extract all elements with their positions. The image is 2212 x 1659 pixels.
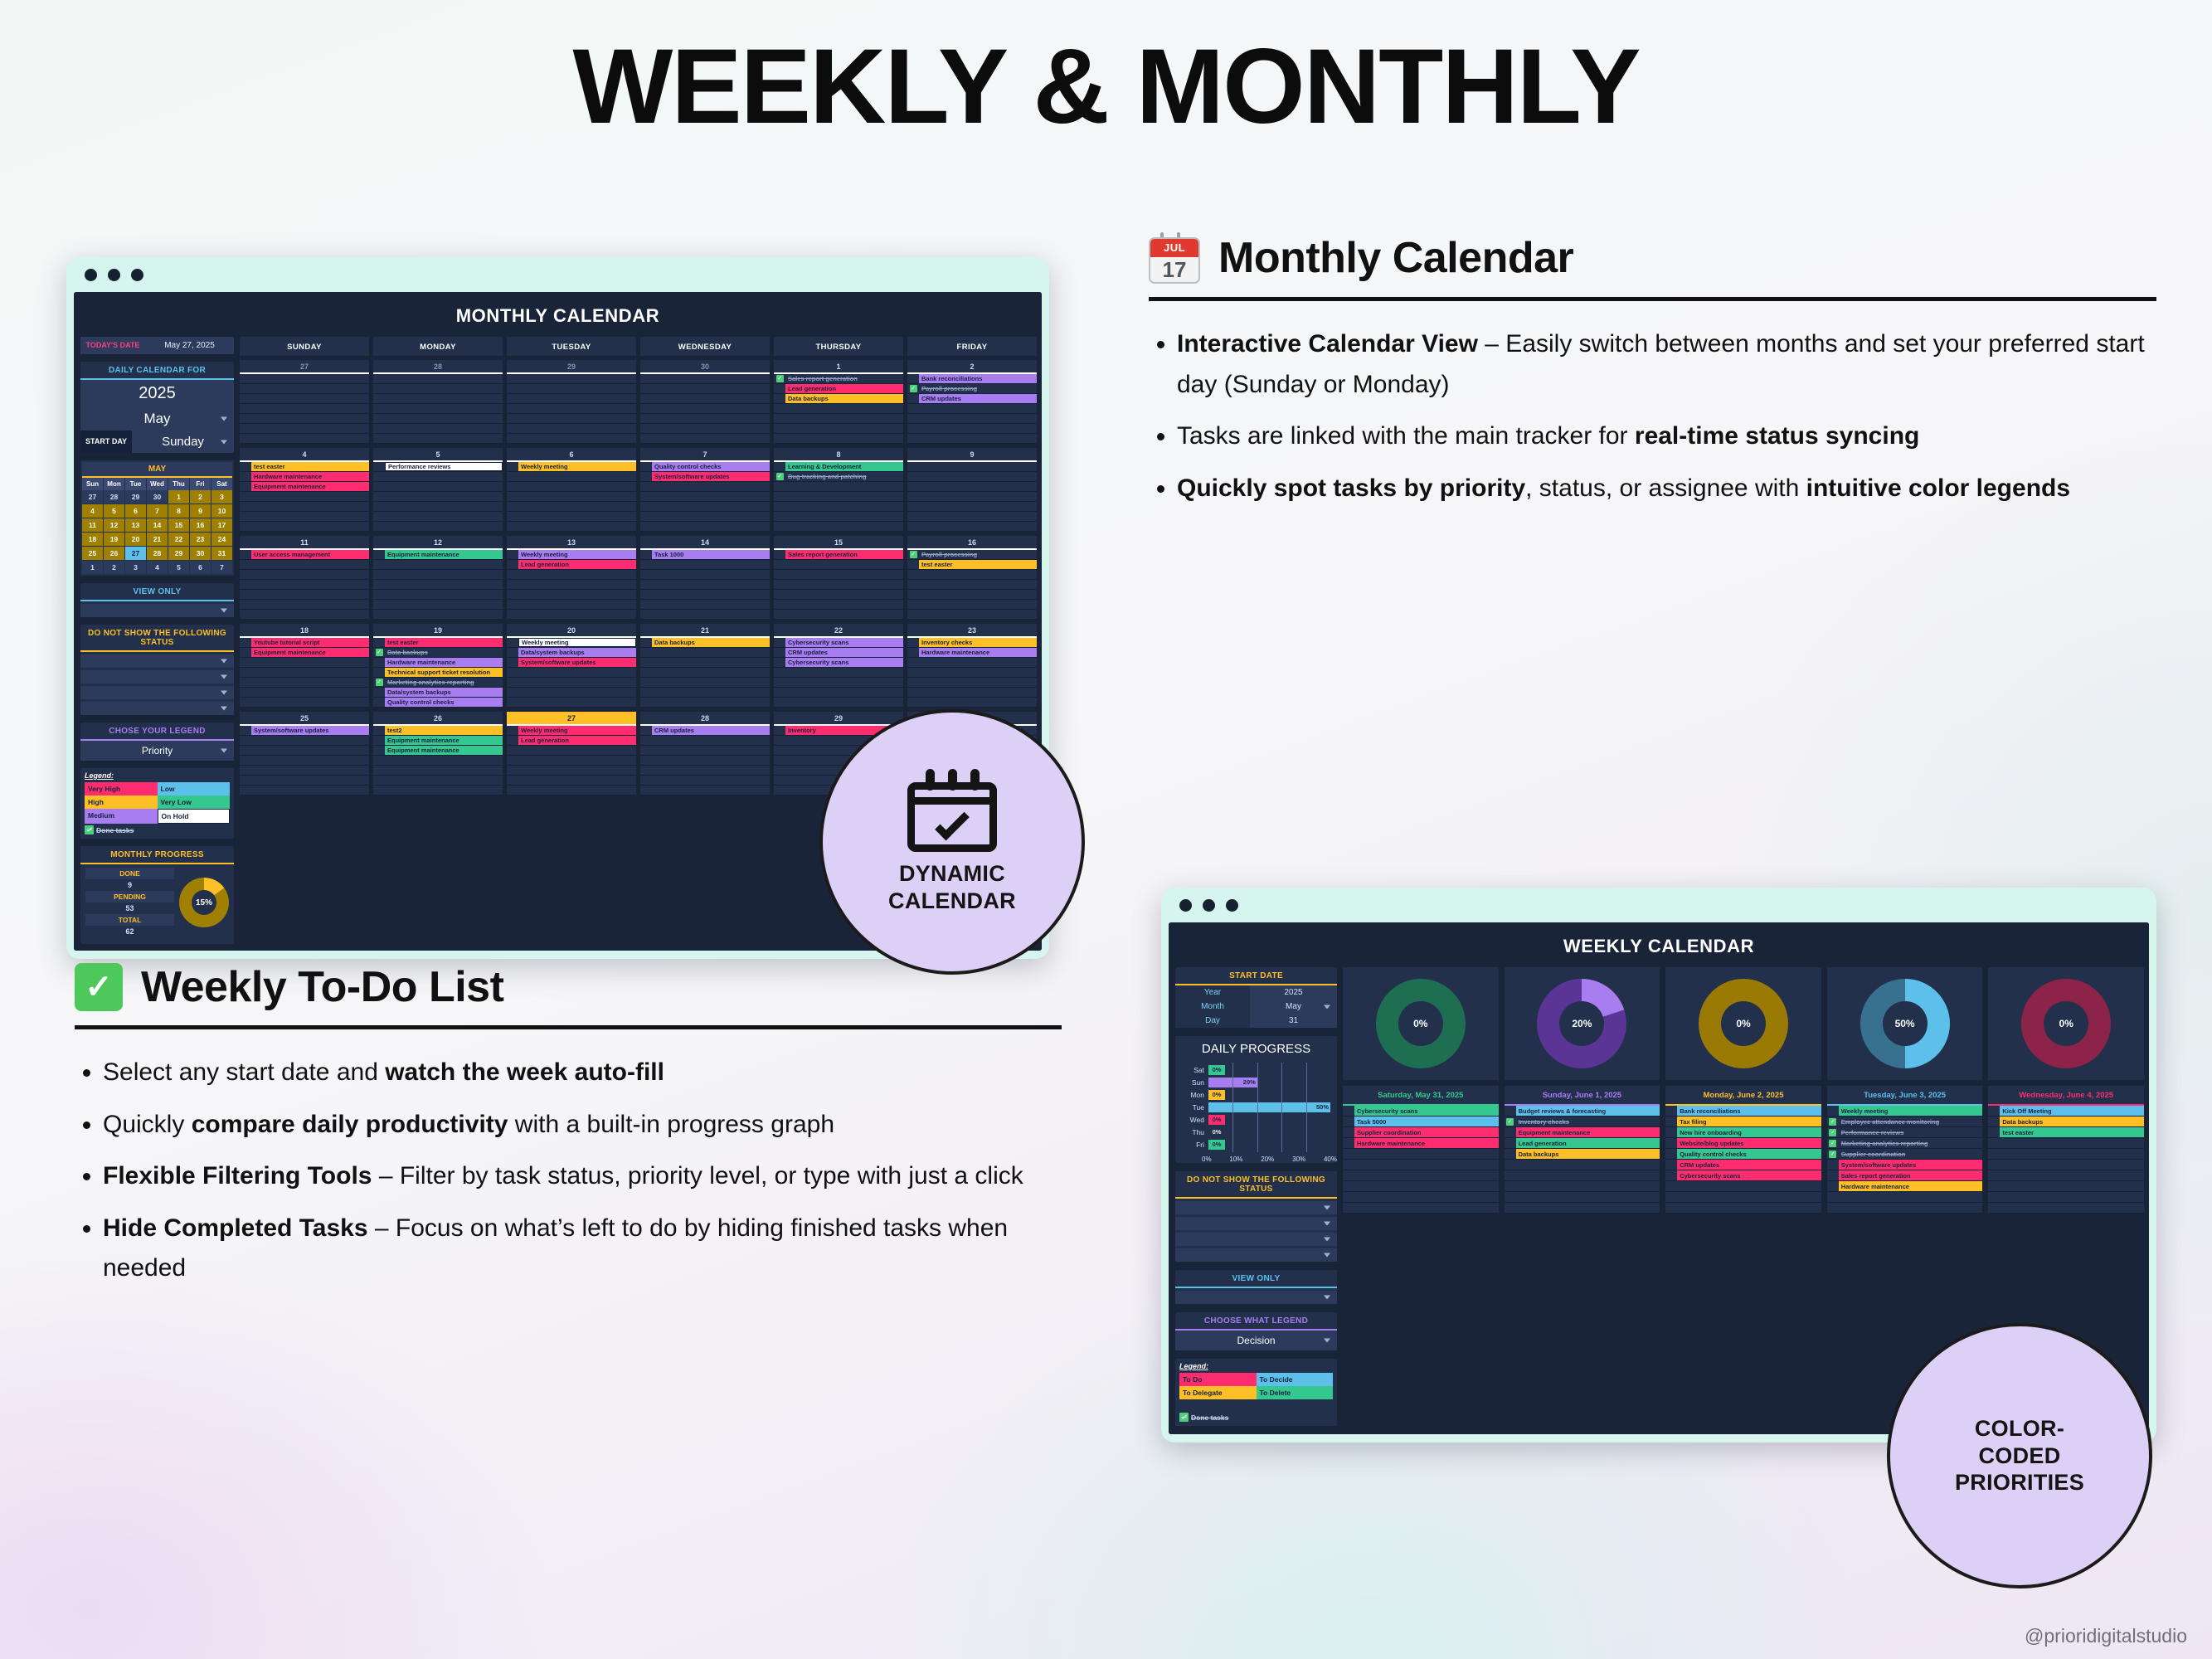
- task-slot[interactable]: [373, 384, 503, 394]
- task-slot[interactable]: [507, 610, 636, 620]
- task-checkbox[interactable]: [507, 600, 518, 609]
- task-slot[interactable]: [640, 414, 770, 424]
- task-checkbox[interactable]: [640, 384, 652, 393]
- task-checkbox[interactable]: [640, 678, 652, 687]
- task-slot[interactable]: Data/system backups: [373, 688, 503, 698]
- task-checkbox[interactable]: [640, 570, 652, 579]
- task-checkbox[interactable]: [1505, 1160, 1516, 1170]
- task-checkbox[interactable]: [907, 522, 919, 531]
- task-slot[interactable]: [373, 502, 503, 512]
- task-checkbox[interactable]: [1343, 1192, 1354, 1202]
- mini-calendar-day[interactable]: 14: [147, 518, 168, 532]
- task-slot[interactable]: [907, 502, 1037, 512]
- task-checkbox[interactable]: [907, 678, 919, 687]
- task-checkbox[interactable]: [640, 688, 652, 697]
- task-slot[interactable]: [640, 560, 770, 570]
- task-slot[interactable]: [507, 394, 636, 404]
- task-slot[interactable]: test easter: [373, 638, 503, 648]
- task-checkbox[interactable]: [774, 434, 785, 443]
- calendar-day-cell[interactable]: 28CRM updates: [640, 712, 770, 795]
- task-slot[interactable]: [1988, 1160, 2144, 1170]
- task-checkbox[interactable]: [907, 404, 919, 413]
- task-slot[interactable]: ✓Payroll processing: [907, 384, 1037, 394]
- task-slot[interactable]: test2: [373, 726, 503, 736]
- task-slot[interactable]: [240, 776, 369, 786]
- task-checkbox[interactable]: [1827, 1160, 1839, 1170]
- mini-calendar-day[interactable]: 30: [190, 547, 211, 560]
- task-slot[interactable]: [640, 522, 770, 532]
- task-checkbox[interactable]: [1988, 1138, 2000, 1148]
- task-slot[interactable]: [507, 424, 636, 434]
- mini-calendar-day[interactable]: 28: [147, 547, 168, 560]
- task-slot[interactable]: [774, 610, 903, 620]
- task-slot[interactable]: [373, 434, 503, 444]
- task-checkbox[interactable]: [507, 726, 518, 735]
- task-slot[interactable]: Weekly meeting: [507, 550, 636, 560]
- task-slot[interactable]: Data backups: [1988, 1117, 2144, 1127]
- task-checkbox[interactable]: [640, 580, 652, 589]
- task-checkbox[interactable]: [240, 384, 251, 393]
- task-checkbox[interactable]: [507, 424, 518, 433]
- task-checkbox[interactable]: [507, 394, 518, 403]
- task-checkbox[interactable]: [640, 698, 652, 707]
- task-slot[interactable]: [507, 776, 636, 786]
- task-checkbox[interactable]: [507, 404, 518, 413]
- mini-calendar-day[interactable]: 17: [211, 518, 232, 532]
- task-slot[interactable]: [240, 610, 369, 620]
- task-checkbox[interactable]: ✓: [907, 550, 919, 559]
- mini-calendar-day[interactable]: 20: [125, 533, 146, 546]
- calendar-day-cell[interactable]: 25System/software updates: [240, 712, 369, 795]
- task-slot[interactable]: [240, 658, 369, 668]
- task-slot[interactable]: ✓Marketing analytics reporting: [1827, 1138, 1983, 1149]
- task-slot[interactable]: [507, 374, 636, 384]
- task-checkbox[interactable]: [1665, 1138, 1677, 1148]
- task-slot[interactable]: New hire onboarding: [1665, 1127, 1821, 1138]
- task-checkbox[interactable]: [1505, 1181, 1516, 1191]
- calendar-day-cell[interactable]: 9: [907, 448, 1037, 532]
- task-slot[interactable]: Equipment maintenance: [373, 550, 503, 560]
- task-checkbox[interactable]: [1343, 1106, 1354, 1116]
- task-checkbox[interactable]: [1505, 1149, 1516, 1159]
- hide-status-select-2[interactable]: [80, 670, 234, 684]
- task-checkbox[interactable]: [507, 374, 518, 383]
- task-checkbox[interactable]: [507, 384, 518, 393]
- task-checkbox[interactable]: [373, 482, 385, 491]
- task-slot[interactable]: [774, 512, 903, 522]
- task-checkbox[interactable]: [1505, 1203, 1516, 1213]
- task-slot[interactable]: Equipment maintenance: [373, 746, 503, 756]
- mini-calendar-day[interactable]: 7: [147, 504, 168, 518]
- task-slot[interactable]: [774, 522, 903, 532]
- legend-select[interactable]: Priority: [80, 741, 234, 761]
- task-slot[interactable]: Weekly meeting: [507, 462, 636, 472]
- task-slot[interactable]: Cybersecurity scans: [774, 638, 903, 648]
- mini-calendar-day[interactable]: 6: [125, 504, 146, 518]
- task-slot[interactable]: [1988, 1203, 2144, 1214]
- task-checkbox[interactable]: [1988, 1149, 2000, 1159]
- window-minimize-dot[interactable]: [1203, 899, 1215, 912]
- task-slot[interactable]: Lead generation: [507, 560, 636, 570]
- task-slot[interactable]: [907, 482, 1037, 492]
- task-checkbox[interactable]: [640, 482, 652, 491]
- task-checkbox[interactable]: [507, 756, 518, 765]
- task-checkbox[interactable]: [1665, 1117, 1677, 1126]
- task-checkbox[interactable]: [1665, 1203, 1677, 1213]
- task-checkbox[interactable]: [907, 482, 919, 491]
- task-checkbox[interactable]: [640, 590, 652, 599]
- mini-calendar-day[interactable]: 5: [104, 504, 124, 518]
- task-slot[interactable]: [907, 512, 1037, 522]
- task-slot[interactable]: [640, 512, 770, 522]
- task-checkbox[interactable]: [774, 550, 785, 559]
- task-checkbox[interactable]: [907, 462, 919, 471]
- task-slot[interactable]: [373, 580, 503, 590]
- task-slot[interactable]: User access management: [240, 550, 369, 560]
- task-checkbox[interactable]: [240, 638, 251, 647]
- task-checkbox[interactable]: [1827, 1181, 1839, 1191]
- task-checkbox[interactable]: [774, 394, 785, 403]
- month-select[interactable]: May: [80, 407, 234, 431]
- task-checkbox[interactable]: [1988, 1117, 2000, 1126]
- task-slot[interactable]: [907, 462, 1037, 472]
- task-slot[interactable]: [240, 374, 369, 384]
- task-slot[interactable]: [640, 384, 770, 394]
- task-checkbox[interactable]: [640, 502, 652, 511]
- task-checkbox[interactable]: [507, 590, 518, 599]
- mini-calendar-day[interactable]: 7: [211, 561, 232, 574]
- task-checkbox[interactable]: [774, 600, 785, 609]
- task-checkbox[interactable]: [1343, 1170, 1354, 1180]
- task-checkbox[interactable]: [240, 472, 251, 481]
- task-checkbox[interactable]: [240, 492, 251, 501]
- task-checkbox[interactable]: [1988, 1181, 2000, 1191]
- task-checkbox[interactable]: [640, 404, 652, 413]
- task-checkbox[interactable]: [507, 698, 518, 707]
- task-checkbox[interactable]: [507, 522, 518, 531]
- task-checkbox[interactable]: [1343, 1138, 1354, 1148]
- task-checkbox[interactable]: [774, 638, 785, 647]
- task-checkbox[interactable]: [507, 472, 518, 481]
- task-checkbox[interactable]: [240, 424, 251, 433]
- task-checkbox[interactable]: [774, 756, 785, 765]
- calendar-day-cell[interactable]: 19test easter✓Data backupsHardware maint…: [373, 624, 503, 708]
- task-slot[interactable]: CRM updates: [907, 394, 1037, 404]
- task-checkbox[interactable]: [774, 404, 785, 413]
- task-slot[interactable]: Sales report generation: [774, 550, 903, 560]
- task-slot[interactable]: Bank reconciliations: [1665, 1106, 1821, 1117]
- task-slot[interactable]: [640, 658, 770, 668]
- task-slot[interactable]: [240, 522, 369, 532]
- task-checkbox[interactable]: [373, 492, 385, 501]
- mini-calendar-day[interactable]: 11: [82, 518, 103, 532]
- task-checkbox[interactable]: [774, 492, 785, 501]
- task-slot[interactable]: [240, 570, 369, 580]
- task-slot[interactable]: [907, 414, 1037, 424]
- task-slot[interactable]: [1343, 1181, 1499, 1192]
- task-slot[interactable]: System/software updates: [240, 726, 369, 736]
- task-slot[interactable]: [774, 502, 903, 512]
- task-slot[interactable]: [373, 570, 503, 580]
- calendar-day-cell[interactable]: 14Task 1000: [640, 536, 770, 620]
- mini-calendar-day[interactable]: 22: [168, 533, 189, 546]
- task-slot[interactable]: ✓Performance reviews: [1827, 1127, 1983, 1138]
- hide-status-select-3[interactable]: [1175, 1233, 1337, 1246]
- task-checkbox[interactable]: [774, 482, 785, 491]
- task-checkbox[interactable]: [507, 550, 518, 559]
- task-slot[interactable]: [240, 668, 369, 678]
- task-slot[interactable]: [507, 580, 636, 590]
- task-slot[interactable]: [240, 560, 369, 570]
- task-slot[interactable]: [640, 434, 770, 444]
- mini-calendar-day[interactable]: 1: [82, 561, 103, 574]
- task-checkbox[interactable]: [774, 648, 785, 657]
- task-checkbox[interactable]: [640, 424, 652, 433]
- task-checkbox[interactable]: [240, 688, 251, 697]
- task-slot[interactable]: Hardware maintenance: [240, 472, 369, 482]
- mini-calendar-day[interactable]: 18: [82, 533, 103, 546]
- task-slot[interactable]: [907, 522, 1037, 532]
- task-slot[interactable]: [373, 560, 503, 570]
- weekly-day-column[interactable]: Sunday, June 1, 2025Budget reviews & for…: [1505, 1086, 1660, 1214]
- task-checkbox[interactable]: [1343, 1203, 1354, 1213]
- task-checkbox[interactable]: [240, 766, 251, 775]
- task-slot[interactable]: [373, 756, 503, 766]
- mini-calendar-day[interactable]: 27: [125, 547, 146, 560]
- task-checkbox[interactable]: [240, 698, 251, 707]
- task-checkbox[interactable]: [373, 414, 385, 423]
- task-checkbox[interactable]: [240, 668, 251, 677]
- task-slot[interactable]: test easter: [1988, 1127, 2144, 1138]
- task-slot[interactable]: Inventory checks: [907, 638, 1037, 648]
- task-slot[interactable]: Quality control checks: [373, 698, 503, 708]
- calendar-day-cell[interactable]: 8Learning & Development✓Bug tracking and…: [774, 448, 903, 532]
- task-checkbox[interactable]: [507, 580, 518, 589]
- task-slot[interactable]: [640, 590, 770, 600]
- task-slot[interactable]: [907, 570, 1037, 580]
- task-checkbox[interactable]: [1988, 1160, 2000, 1170]
- task-slot[interactable]: [373, 414, 503, 424]
- task-slot[interactable]: CRM updates: [774, 648, 903, 658]
- calendar-day-cell[interactable]: 1✓Sales report generationLead generation…: [774, 360, 903, 444]
- task-checkbox[interactable]: ✓: [1827, 1117, 1839, 1126]
- task-checkbox[interactable]: [907, 668, 919, 677]
- task-slot[interactable]: [373, 590, 503, 600]
- weekly-day-column[interactable]: Wednesday, June 4, 2025Kick Off MeetingD…: [1988, 1086, 2144, 1214]
- mini-calendar-day[interactable]: 9: [190, 504, 211, 518]
- task-slot[interactable]: [1665, 1192, 1821, 1203]
- task-slot[interactable]: System/software updates: [640, 472, 770, 482]
- task-slot[interactable]: Tax filing: [1665, 1117, 1821, 1127]
- task-checkbox[interactable]: [640, 610, 652, 619]
- task-slot[interactable]: [640, 374, 770, 384]
- task-slot[interactable]: [1988, 1192, 2144, 1203]
- task-slot[interactable]: [240, 424, 369, 434]
- task-checkbox[interactable]: [1665, 1127, 1677, 1137]
- task-checkbox[interactable]: [640, 512, 652, 521]
- task-slot[interactable]: [373, 766, 503, 776]
- task-slot[interactable]: [774, 424, 903, 434]
- task-slot[interactable]: [373, 522, 503, 532]
- calendar-day-cell[interactable]: 22Cybersecurity scansCRM updatesCybersec…: [774, 624, 903, 708]
- task-checkbox[interactable]: [774, 610, 785, 619]
- task-checkbox[interactable]: ✓: [1827, 1138, 1839, 1148]
- task-checkbox[interactable]: [1343, 1117, 1354, 1126]
- task-checkbox[interactable]: [373, 698, 385, 707]
- task-slot[interactable]: [240, 736, 369, 746]
- task-slot[interactable]: Bank reconciliations: [907, 374, 1037, 384]
- window-close-dot[interactable]: [85, 269, 97, 281]
- task-slot[interactable]: [907, 600, 1037, 610]
- task-checkbox[interactable]: [240, 590, 251, 599]
- task-slot[interactable]: [507, 668, 636, 678]
- task-slot[interactable]: [507, 698, 636, 708]
- task-checkbox[interactable]: ✓: [373, 678, 385, 687]
- task-checkbox[interactable]: [373, 736, 385, 745]
- task-slot[interactable]: Data backups: [1505, 1149, 1660, 1160]
- task-slot[interactable]: [373, 482, 503, 492]
- mini-calendar-days[interactable]: 2728293012345678910111213141516171819202…: [82, 490, 232, 574]
- task-slot[interactable]: [640, 502, 770, 512]
- calendar-day-cell[interactable]: 29: [507, 360, 636, 444]
- calendar-day-cell[interactable]: 26test2Equipment maintenanceEquipment ma…: [373, 712, 503, 795]
- task-checkbox[interactable]: [1505, 1138, 1516, 1148]
- task-checkbox[interactable]: [1343, 1127, 1354, 1137]
- task-checkbox[interactable]: [774, 384, 785, 393]
- task-checkbox[interactable]: [373, 434, 385, 443]
- task-slot[interactable]: [240, 502, 369, 512]
- task-slot[interactable]: [240, 492, 369, 502]
- task-checkbox[interactable]: [1505, 1127, 1516, 1137]
- task-slot[interactable]: Equipment maintenance: [373, 736, 503, 746]
- task-slot[interactable]: ✓Sales report generation: [774, 374, 903, 384]
- mini-calendar-day[interactable]: 8: [168, 504, 189, 518]
- task-checkbox[interactable]: [907, 638, 919, 647]
- start-date-field[interactable]: MonthMay: [1175, 1000, 1337, 1014]
- task-checkbox[interactable]: [1988, 1127, 2000, 1137]
- hide-status-select-2[interactable]: [1175, 1217, 1337, 1230]
- mini-calendar-day[interactable]: 30: [147, 490, 168, 504]
- task-checkbox[interactable]: [907, 472, 919, 481]
- task-slot[interactable]: [640, 756, 770, 766]
- task-slot[interactable]: [640, 766, 770, 776]
- task-slot[interactable]: System/software updates: [1827, 1160, 1983, 1170]
- task-slot[interactable]: Hardware maintenance: [907, 648, 1037, 658]
- task-slot[interactable]: Sales report generation: [1827, 1170, 1983, 1181]
- task-slot[interactable]: [1343, 1192, 1499, 1203]
- task-slot[interactable]: [240, 384, 369, 394]
- task-slot[interactable]: [774, 688, 903, 698]
- task-checkbox[interactable]: [907, 580, 919, 589]
- mini-calendar-day[interactable]: 16: [190, 518, 211, 532]
- task-checkbox[interactable]: ✓: [1505, 1117, 1516, 1126]
- task-checkbox[interactable]: [373, 472, 385, 481]
- task-slot[interactable]: [240, 786, 369, 795]
- task-checkbox[interactable]: [240, 746, 251, 755]
- task-slot[interactable]: [774, 668, 903, 678]
- task-slot[interactable]: [640, 698, 770, 708]
- task-slot[interactable]: Equipment maintenance: [240, 482, 369, 492]
- mini-calendar-day[interactable]: 19: [104, 533, 124, 546]
- task-checkbox[interactable]: [774, 766, 785, 775]
- task-slot[interactable]: [507, 570, 636, 580]
- task-slot[interactable]: [1665, 1181, 1821, 1192]
- task-checkbox[interactable]: [373, 560, 385, 569]
- task-slot[interactable]: Hardware maintenance: [373, 658, 503, 668]
- task-slot[interactable]: [774, 678, 903, 688]
- task-slot[interactable]: [640, 610, 770, 620]
- task-slot[interactable]: [507, 502, 636, 512]
- task-checkbox[interactable]: [373, 394, 385, 403]
- task-checkbox[interactable]: [373, 766, 385, 775]
- task-checkbox[interactable]: [1665, 1192, 1677, 1202]
- task-slot[interactable]: Lead generation: [774, 384, 903, 394]
- task-checkbox[interactable]: [240, 512, 251, 521]
- task-checkbox[interactable]: [907, 414, 919, 423]
- task-slot[interactable]: [507, 688, 636, 698]
- task-slot[interactable]: [1343, 1203, 1499, 1214]
- task-checkbox[interactable]: [507, 786, 518, 795]
- task-checkbox[interactable]: [774, 698, 785, 707]
- task-checkbox[interactable]: [774, 570, 785, 579]
- task-checkbox[interactable]: [1665, 1149, 1677, 1159]
- task-checkbox[interactable]: [1505, 1170, 1516, 1180]
- task-checkbox[interactable]: [1827, 1106, 1839, 1116]
- task-checkbox[interactable]: [1827, 1192, 1839, 1202]
- task-checkbox[interactable]: [507, 746, 518, 755]
- task-checkbox[interactable]: [1827, 1203, 1839, 1213]
- task-slot[interactable]: [240, 600, 369, 610]
- task-checkbox[interactable]: [240, 658, 251, 667]
- task-checkbox[interactable]: [774, 668, 785, 677]
- task-slot[interactable]: [240, 678, 369, 688]
- task-checkbox[interactable]: [373, 384, 385, 393]
- task-checkbox[interactable]: [774, 522, 785, 531]
- task-checkbox[interactable]: ✓: [373, 648, 385, 657]
- task-checkbox[interactable]: [507, 512, 518, 521]
- task-slot[interactable]: [774, 698, 903, 708]
- task-slot[interactable]: [907, 668, 1037, 678]
- calendar-day-cell[interactable]: 27Weekly meetingLead generation: [507, 712, 636, 795]
- task-slot[interactable]: ✓Bug tracking and patching: [774, 472, 903, 482]
- start-date-field[interactable]: Day31: [1175, 1014, 1337, 1028]
- task-slot[interactable]: Supplier coordination: [1343, 1127, 1499, 1138]
- task-checkbox[interactable]: [240, 786, 251, 795]
- calendar-day-cell[interactable]: 4test easterHardware maintenanceEquipmen…: [240, 448, 369, 532]
- task-slot[interactable]: Quality control checks: [1665, 1149, 1821, 1160]
- task-slot[interactable]: Data backups: [774, 394, 903, 404]
- mini-calendar-day[interactable]: 2: [104, 561, 124, 574]
- task-checkbox[interactable]: ✓: [1827, 1149, 1839, 1159]
- task-checkbox[interactable]: [640, 462, 652, 471]
- task-checkbox[interactable]: [774, 776, 785, 785]
- task-slot[interactable]: [507, 756, 636, 766]
- task-checkbox[interactable]: [907, 424, 919, 433]
- task-slot[interactable]: [774, 570, 903, 580]
- task-checkbox[interactable]: [373, 580, 385, 589]
- task-checkbox[interactable]: [774, 424, 785, 433]
- task-checkbox[interactable]: [240, 394, 251, 403]
- task-checkbox[interactable]: [507, 570, 518, 579]
- task-checkbox[interactable]: [373, 600, 385, 609]
- task-slot[interactable]: Data/system backups: [507, 648, 636, 658]
- task-checkbox[interactable]: [240, 580, 251, 589]
- task-slot[interactable]: [640, 600, 770, 610]
- task-checkbox[interactable]: [507, 688, 518, 697]
- task-slot[interactable]: [373, 610, 503, 620]
- task-slot[interactable]: [774, 482, 903, 492]
- task-slot[interactable]: [1988, 1138, 2144, 1149]
